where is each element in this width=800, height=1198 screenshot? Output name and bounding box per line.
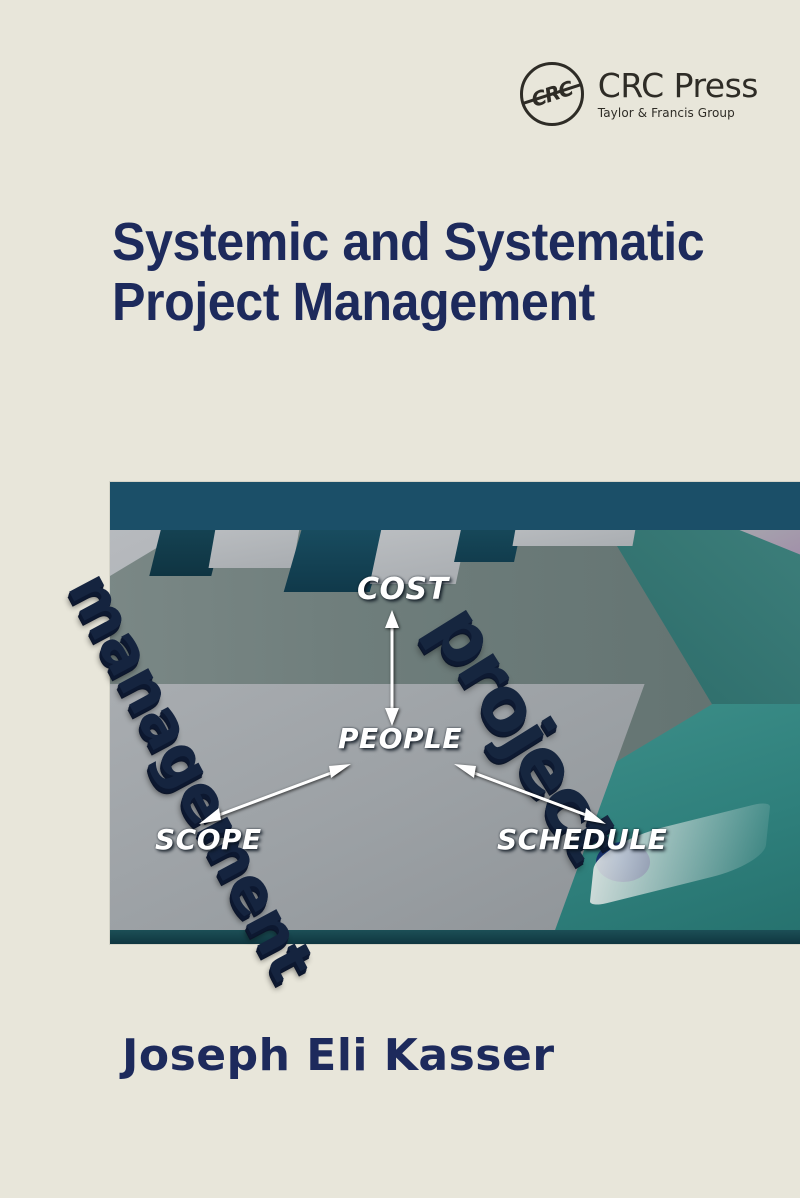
book-title: Systemic and Systematic Project Manageme… — [112, 212, 772, 333]
author-name: Joseph Eli Kasser — [122, 1030, 555, 1081]
label-people: PEOPLE — [338, 722, 462, 755]
publisher-name: CRC Press — [598, 69, 758, 102]
arrow-schedule-people — [450, 758, 610, 830]
book-cover: CRC CRC Press Taylor & Francis Group Sys… — [0, 0, 800, 1198]
arrow-scope-people — [195, 758, 355, 830]
crc-logo-letters: CRC — [528, 76, 575, 112]
label-cost: COST — [357, 572, 449, 607]
publisher-logo: CRC CRC Press Taylor & Francis Group — [520, 62, 758, 126]
label-scope: SCOPE — [155, 823, 262, 856]
artwork-bottom-edge — [110, 930, 800, 944]
crc-circle-logo-icon: CRC — [520, 62, 584, 126]
publisher-text: CRC Press Taylor & Francis Group — [598, 69, 758, 119]
arrow-cost-people — [372, 608, 412, 728]
artwork-top-band — [110, 482, 800, 530]
title-line-1: Systemic and Systematic — [112, 212, 726, 272]
label-schedule: SCHEDULE — [497, 823, 667, 856]
title-line-2: Project Management — [112, 272, 726, 332]
publisher-imprint: Taylor & Francis Group — [598, 107, 758, 119]
